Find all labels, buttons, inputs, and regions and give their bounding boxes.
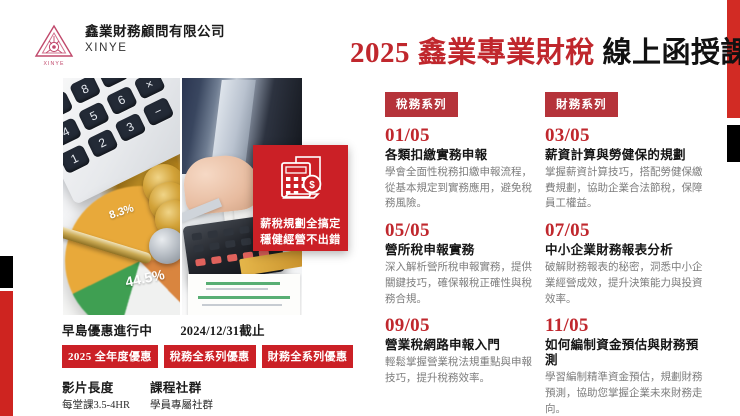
promo-tag-finance-series[interactable]: 財務全系列優惠	[262, 345, 354, 368]
course-date: 11/05	[545, 316, 710, 337]
course-title: 薪資計算與勞健保的規劃	[545, 148, 710, 163]
promo-tag-annual[interactable]: 2025 全年度優惠	[62, 345, 158, 368]
brand-name-en: XINYE	[85, 42, 225, 54]
title-red-part: 2025 鑫業專業財稅	[350, 37, 595, 69]
brand-lockup: XINYE 鑫業財務顧問有限公司 XINYE	[33, 22, 225, 68]
course-item[interactable]: 09/05 營業稅網路申報入門 輕鬆掌握營業稅法規重點與申報技巧，提升稅務效率。	[385, 316, 535, 386]
series-badge-finance: 財務系列	[545, 92, 618, 117]
course-item[interactable]: 01/05 各類扣繳實務申報 學會全面性稅務扣繳申報流程，從基本規定到實務應用，…	[385, 126, 535, 212]
course-title: 營所稅申報實務	[385, 243, 535, 258]
course-title: 中小企業財務報表分析	[545, 243, 710, 258]
photo-calculator-pie-chart: 7 8 9 ÷ 4 5 6 × 1 2 3 − 8.3% 44.5%	[63, 78, 180, 315]
course-date: 09/05	[385, 316, 535, 337]
community-block: 課程社群 學員專屬社群 可與講師互動提問	[150, 377, 300, 416]
callout-line-2: 穩健經營不出錯	[253, 233, 348, 249]
course-desc: 破解財務報表的秘密，洞悉中小企業經營成效，提升決策能力與投資效率。	[545, 260, 710, 307]
video-length-heading: 影片長度	[62, 377, 150, 396]
course-date: 01/05	[385, 126, 535, 147]
community-heading: 課程社群	[150, 377, 300, 396]
early-bird-label: 早島優惠進行中	[62, 320, 152, 339]
community-line-1: 學員專屬社群	[150, 398, 300, 413]
callout-badge: $ 薪稅規劃全搞定 穩健經營不出錯	[253, 145, 348, 251]
poster-title: 2025 鑫業專業財稅 線上函授課	[350, 38, 740, 70]
course-title: 如何編制資金預估與財務預測	[545, 338, 710, 368]
course-item[interactable]: 03/05 薪資計算與勞健保的規劃 掌握薪資計算技巧，搭配勞健保繳費規劃，協助企…	[545, 126, 710, 212]
deadline-label: 2024/12/31截止	[180, 320, 264, 339]
svg-text:$: $	[309, 180, 315, 191]
series-column-finance: 財務系列 03/05 薪資計算與勞健保的規劃 掌握薪資計算技巧，搭配勞健保繳費規…	[545, 92, 710, 416]
title-black-part: 線上函授課	[603, 37, 740, 69]
course-desc: 學習編制精準資金預估，規劃財務預測，協助您掌握企業未來財務走向。	[545, 370, 710, 416]
xinye-triangle-logo-icon: XINYE	[33, 22, 75, 68]
poster-canvas: XINYE 鑫業財務顧問有限公司 XINYE 2025 鑫業專業財稅 線上函授課…	[0, 0, 740, 416]
course-title: 營業稅網路申報入門	[385, 338, 535, 353]
course-date: 05/05	[385, 221, 535, 242]
svg-text:XINYE: XINYE	[43, 61, 64, 67]
brand-name-cn: 鑫業財務顧問有限公司	[85, 24, 225, 40]
course-desc: 深入解析營所稅申報實務，提供關鍵技巧，確保報稅正確性與稅務合規。	[385, 260, 535, 307]
series-column-tax: 稅務系列 01/05 各類扣繳實務申報 學會全面性稅務扣繳申報流程，從基本規定到…	[385, 92, 535, 387]
course-item[interactable]: 11/05 如何編制資金預估與財務預測 學習編制精準資金預估，規劃財務預測，協助…	[545, 316, 710, 416]
promo-info-block: 早島優惠進行中 2024/12/31截止 2025 全年度優惠 稅務全系列優惠 …	[62, 320, 352, 416]
decor-bar-left-black	[0, 256, 13, 288]
series-badge-tax: 稅務系列	[385, 92, 458, 117]
callout-line-1: 薪稅規劃全搞定	[253, 217, 348, 233]
video-length-block: 影片長度 每堂課3.5-4HR	[62, 377, 150, 416]
course-title: 各類扣繳實務申報	[385, 148, 535, 163]
course-desc: 輕鬆掌握營業稅法規重點與申報技巧，提升稅務效率。	[385, 355, 535, 387]
promo-tag-list: 2025 全年度優惠 稅務全系列優惠 財務全系列優惠	[62, 345, 352, 368]
course-item[interactable]: 07/05 中小企業財務報表分析 破解財務報表的秘密，洞悉中小企業經營成效，提升…	[545, 221, 710, 307]
decor-bar-left-red	[0, 291, 13, 416]
video-length-value: 每堂課3.5-4HR	[62, 398, 150, 413]
course-desc: 學會全面性稅務扣繳申報流程，從基本規定到實務應用，避免稅務風險。	[385, 165, 535, 212]
promo-tag-tax-series[interactable]: 稅務全系列優惠	[164, 345, 256, 368]
course-date: 03/05	[545, 126, 710, 147]
course-item[interactable]: 05/05 營所稅申報實務 深入解析營所稅申報實務，提供關鍵技巧，確保報稅正確性…	[385, 221, 535, 307]
course-date: 07/05	[545, 221, 710, 242]
calculator-invoice-coin-icon: $	[253, 154, 348, 211]
course-desc: 掌握薪資計算技巧，搭配勞健保繳費規劃，協助企業合法節稅，保障員工權益。	[545, 165, 710, 212]
decor-bar-right-black	[727, 125, 740, 162]
